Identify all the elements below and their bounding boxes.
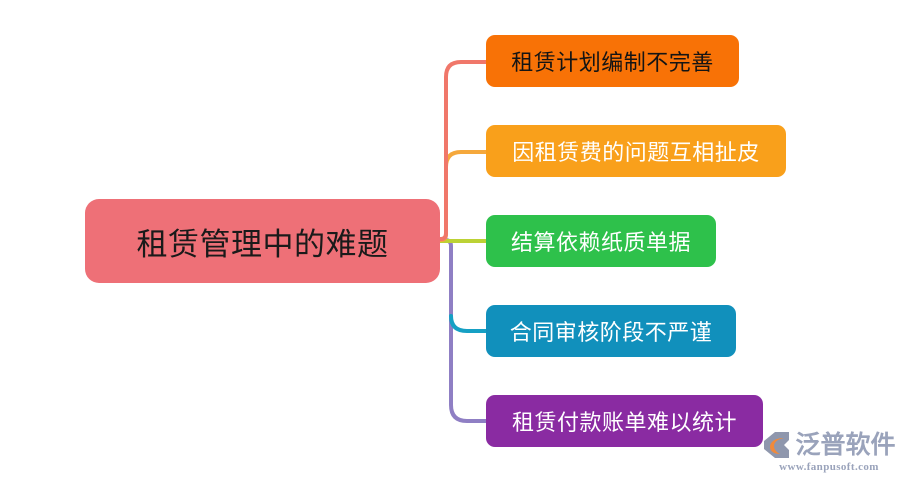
- central-topic-label: 租赁管理中的难题: [137, 219, 389, 264]
- watermark-logo: 泛普软件 www.fanpusoft.com: [762, 424, 896, 480]
- branch-node-5[interactable]: 租赁付款账单难以统计: [486, 395, 763, 447]
- branch-node-4[interactable]: 合同审核阶段不严谨: [486, 305, 736, 357]
- connector-branch-0: [440, 62, 486, 239]
- branch-node-2[interactable]: 因租赁费的问题互相扯皮: [486, 125, 786, 177]
- branch-node-1-label: 租赁计划编制不完善: [511, 45, 714, 77]
- mind-map-canvas: 租赁管理中的难题 租赁计划编制不完善 因租赁费的问题互相扯皮 结算依赖纸质单据 …: [0, 0, 901, 486]
- branch-node-4-label: 合同审核阶段不严谨: [510, 315, 713, 347]
- central-topic-node[interactable]: 租赁管理中的难题: [85, 199, 440, 283]
- branch-node-3[interactable]: 结算依赖纸质单据: [486, 215, 716, 267]
- fanpu-logo-mark: [762, 431, 792, 459]
- connector-branch-1: [440, 152, 486, 240]
- connector-branch-4: [440, 240, 486, 421]
- logo-row: 泛普软件: [762, 431, 895, 459]
- branch-node-5-label: 租赁付款账单难以统计: [512, 405, 737, 437]
- brand-url-text: www.fanpusoft.com: [779, 461, 879, 473]
- branch-node-3-label: 结算依赖纸质单据: [511, 225, 691, 257]
- brand-name-text: 泛普软件: [795, 433, 895, 458]
- connector-branch-3: [451, 316, 486, 331]
- branch-node-1[interactable]: 租赁计划编制不完善: [486, 35, 739, 87]
- branch-node-2-label: 因租赁费的问题互相扯皮: [512, 135, 760, 167]
